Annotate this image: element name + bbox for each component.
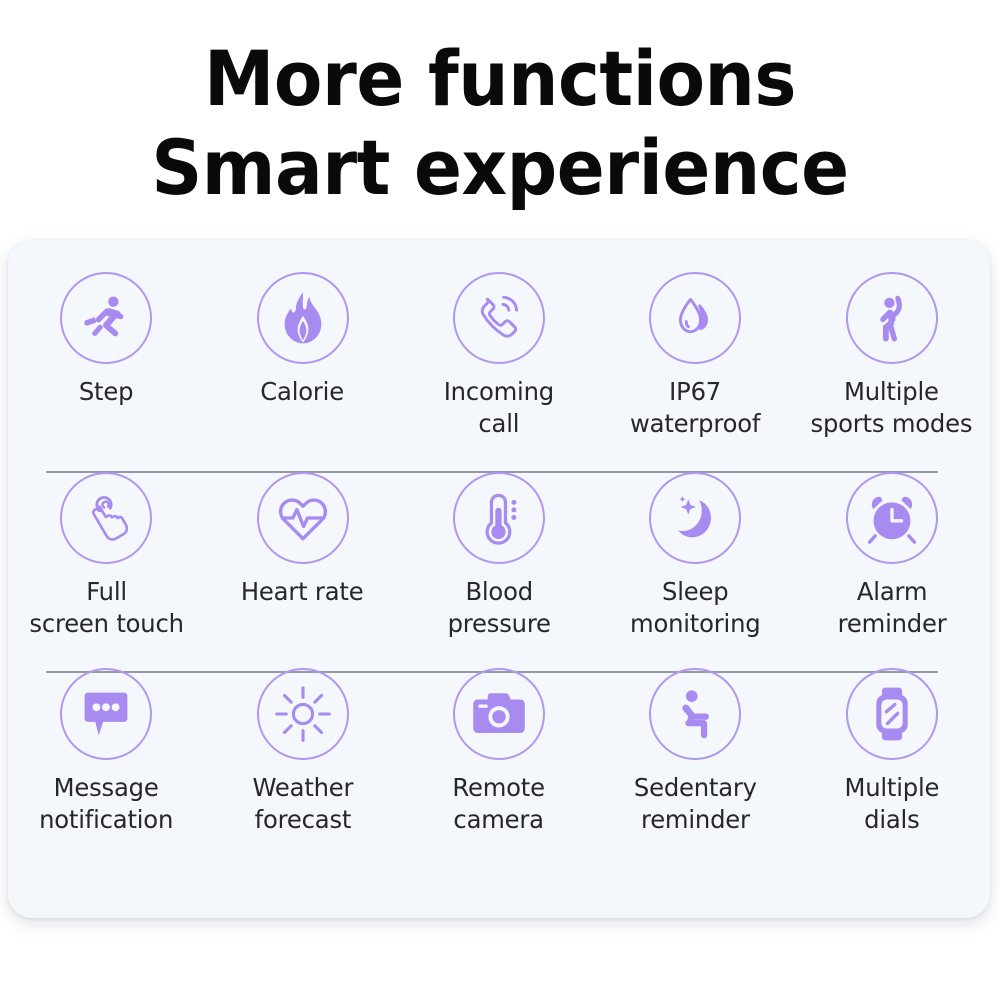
heart-pulse-icon xyxy=(257,472,349,564)
page-title-line-2: Smart experience xyxy=(35,123,965,212)
smartwatch-icon xyxy=(846,668,938,760)
moon-star-icon xyxy=(649,472,741,564)
touch-hand-icon xyxy=(60,472,152,564)
stretching-person-icon xyxy=(846,272,938,364)
water-drop-icon xyxy=(649,272,741,364)
feature-label: Sedentary reminder xyxy=(634,772,757,836)
feature-item-full-screen-touch[interactable]: Full screen touch xyxy=(8,472,204,640)
feature-item-calorie[interactable]: Calorie xyxy=(204,272,400,408)
feature-label: Full screen touch xyxy=(29,576,183,640)
feature-item-blood-pressure[interactable]: Blood pressure xyxy=(401,472,597,640)
feature-label: Alarm reminder xyxy=(837,576,946,640)
alarm-clock-icon xyxy=(846,472,938,564)
feature-label: Remote camera xyxy=(453,772,545,836)
feature-label: IP67 waterproof xyxy=(630,376,760,440)
feature-item-sedentary-reminder[interactable]: Sedentary reminder xyxy=(597,668,793,836)
feature-row: Message notification xyxy=(8,668,990,868)
running-person-icon xyxy=(60,272,152,364)
feature-item-remote-camera[interactable]: Remote camera xyxy=(401,668,597,836)
feature-item-alarm-reminder[interactable]: Alarm reminder xyxy=(794,472,990,640)
feature-label: Calorie xyxy=(261,376,345,408)
message-bubble-icon xyxy=(60,668,152,760)
feature-item-incoming-call[interactable]: Incoming call xyxy=(401,272,597,440)
feature-label: Weather forecast xyxy=(252,772,353,836)
sun-icon xyxy=(257,668,349,760)
phone-call-icon xyxy=(453,272,545,364)
feature-label: Step xyxy=(79,376,133,408)
features-grid: Step Calorie xyxy=(8,240,990,918)
feature-label: Incoming call xyxy=(444,376,554,440)
feature-item-sports-modes[interactable]: Multiple sports modes xyxy=(794,272,990,440)
feature-item-waterproof[interactable]: IP67 waterproof xyxy=(597,272,793,440)
feature-row: Full screen touch Heart rate xyxy=(8,472,990,672)
features-card: Step Calorie xyxy=(8,240,990,918)
feature-label: Multiple dials xyxy=(844,772,939,836)
feature-label: Multiple sports modes xyxy=(811,376,973,440)
camera-icon xyxy=(453,668,545,760)
feature-item-message-notification[interactable]: Message notification xyxy=(8,668,204,836)
page-title: More functions Smart experience xyxy=(35,34,965,212)
feature-label: Message notification xyxy=(39,772,173,836)
feature-row: Step Calorie xyxy=(8,272,990,472)
feature-label: Sleep monitoring xyxy=(630,576,760,640)
feature-label: Heart rate xyxy=(241,576,364,608)
thermometer-icon xyxy=(453,472,545,564)
promo-page: More functions Smart experience Step xyxy=(0,0,1000,1000)
feature-item-sleep-monitoring[interactable]: Sleep monitoring xyxy=(597,472,793,640)
page-title-line-1: More functions xyxy=(35,34,965,123)
sitting-person-icon xyxy=(649,668,741,760)
feature-label: Blood pressure xyxy=(447,576,550,640)
feature-item-step[interactable]: Step xyxy=(8,272,204,408)
feature-item-multiple-dials[interactable]: Multiple dials xyxy=(794,668,990,836)
flame-icon xyxy=(257,272,349,364)
feature-item-heart-rate[interactable]: Heart rate xyxy=(204,472,400,608)
feature-item-weather-forecast[interactable]: Weather forecast xyxy=(204,668,400,836)
